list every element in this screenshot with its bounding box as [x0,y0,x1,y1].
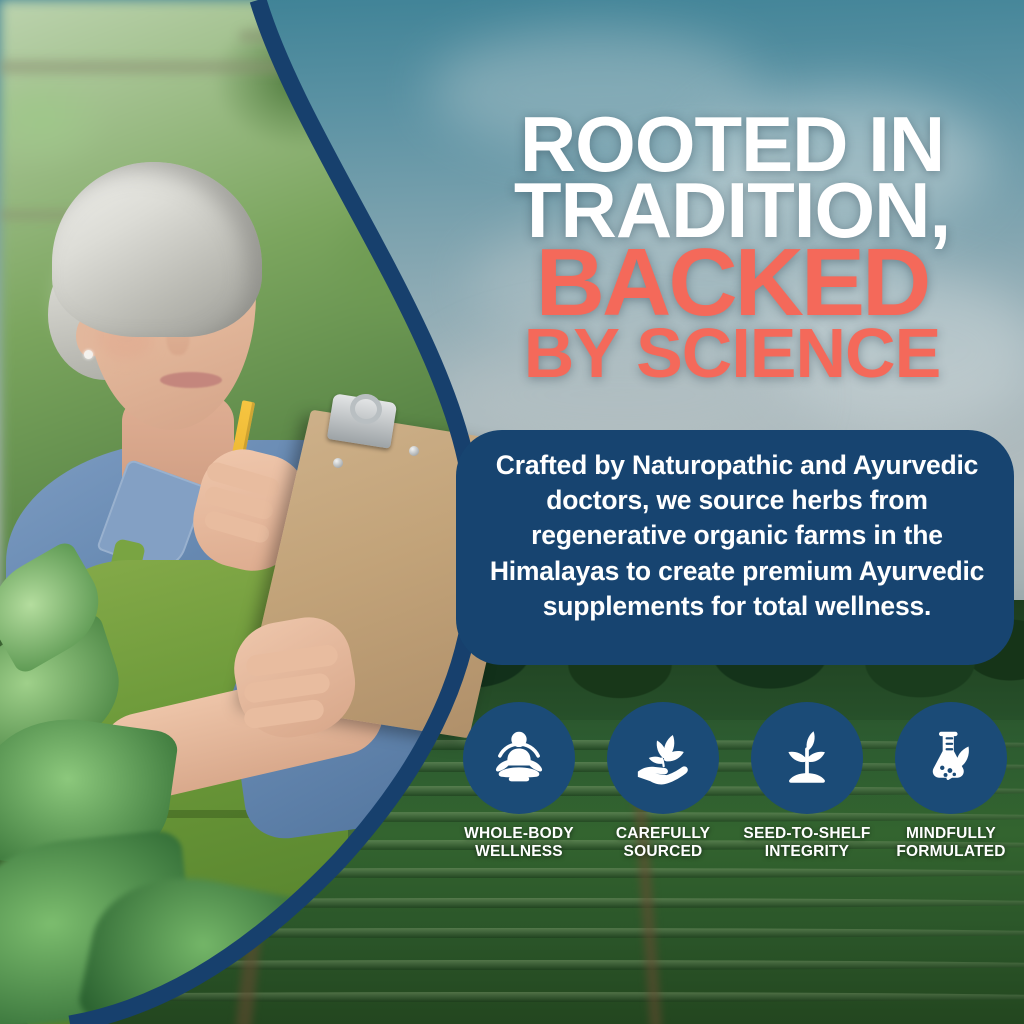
promo-graphic: ROOTED IN TRADITION, BACKED BY SCIENCE C… [0,0,1024,1024]
flask-leaf-icon [916,723,986,793]
badge-label: WHOLE-BODY WELLNESS [464,825,574,862]
badge-label: SEED-TO-SHELF INTEGRITY [743,825,870,862]
badge-label: MINDFULLY FORMULATED [896,825,1005,862]
badge-circle [607,702,719,814]
meditation-lotus-icon [485,724,553,792]
badge-circle [463,702,575,814]
clipboard-rivet [409,446,419,456]
badge-circle [895,702,1007,814]
mouth [160,372,222,388]
badge-label: CAREFULLY SOURCED [616,825,710,862]
badge-seed-to-shelf-integrity[interactable]: SEED-TO-SHELF INTEGRITY [740,702,874,867]
badge-carefully-sourced[interactable]: CAREFULLY SOURCED [596,702,730,867]
feature-badges: WHOLE-BODY WELLNESS CAREFULLY SOURCED [452,702,1018,867]
clipboard-rivet [333,458,343,468]
page-title: ROOTED IN TRADITION, BACKED BY SCIENCE [452,112,1012,382]
headline-line-4: BY SCIENCE [452,324,1012,383]
earring [84,350,93,359]
badge-mindfully-formulated[interactable]: MINDFULLY FORMULATED [884,702,1018,867]
seedling-sprout-icon [772,723,842,793]
badge-whole-body-wellness[interactable]: WHOLE-BODY WELLNESS [452,702,586,867]
badge-circle [751,702,863,814]
headline-line-3: BACKED [452,243,1012,324]
hand-holding-leaves-icon [628,723,698,793]
description-text: Crafted by Naturopathic and Ayurvedic do… [470,448,1004,624]
